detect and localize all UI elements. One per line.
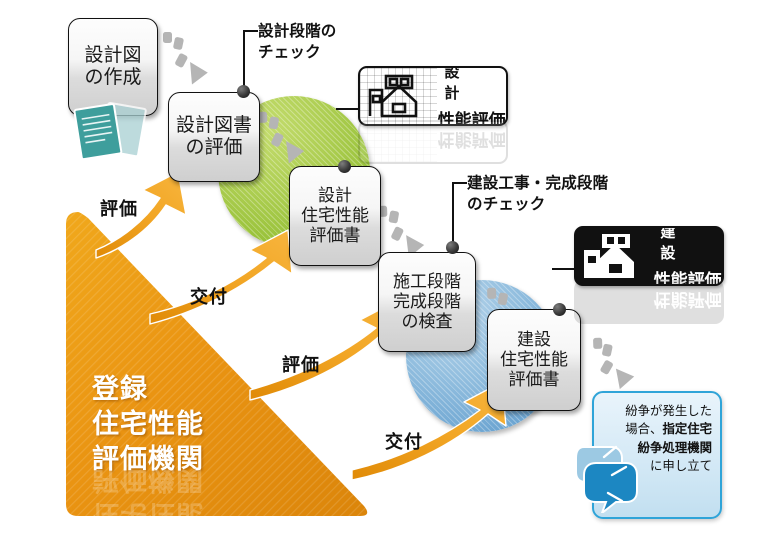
callout-construction-stage-check: 建設工事・完成段階 のチェック xyxy=(467,174,608,216)
callout-dot-1 xyxy=(237,85,250,98)
organization-label-reflection: 登録 住宅性能 評価機関 xyxy=(92,461,204,538)
diagram-canvas: 登録 住宅性能 評価機関 登録 住宅性能 評価機関 xyxy=(0,0,770,538)
design-performance-badge: 設 計 性能評価 xyxy=(358,66,504,122)
dispute-line-2-bold: 指定住宅 xyxy=(662,422,712,436)
flow-label-eval-2: 評価 xyxy=(282,351,320,377)
process-box-design-doc-eval-label: 設計図書 の評価 xyxy=(176,115,252,160)
flow-label-eval-1: 評価 xyxy=(100,195,138,221)
callout-leader-line-2 xyxy=(453,182,467,184)
dispute-speech-bubbles-icon xyxy=(576,441,654,513)
process-box-construction-inspection[interactable]: 施工段階 完成段階 の検査 xyxy=(378,252,476,352)
construction-badge-top-text: 建 設 xyxy=(653,226,722,263)
callout-leader-line-1-vert xyxy=(243,30,245,88)
process-box-design-report[interactable]: 設計 住宅性能 評価書 xyxy=(289,166,381,266)
dispute-line-1: 紛争が発生した xyxy=(625,404,712,418)
callout-leader-line-2-vert xyxy=(452,182,454,244)
callout-dot-2 xyxy=(446,241,459,254)
process-box-design-report-label: 設計 住宅性能 評価書 xyxy=(301,186,369,246)
process-box-construction-report[interactable]: 建設 住宅性能 評価書 xyxy=(487,309,581,411)
report-dot-design xyxy=(338,160,351,173)
process-box-construction-inspection-label: 施工段階 完成段階 の検査 xyxy=(393,272,461,332)
documents-icon xyxy=(68,96,148,170)
callout-leader-line-1 xyxy=(244,30,258,32)
flow-label-issue-1: 交付 xyxy=(190,283,228,309)
process-box-design-drawing-label: 設計図 の作成 xyxy=(84,45,141,90)
callout-design-stage-check: 設計段階の チェック xyxy=(258,22,337,64)
process-box-design-doc-eval[interactable]: 設計図書 の評価 xyxy=(168,92,260,182)
process-box-construction-report-label: 建設 住宅性能 評価書 xyxy=(500,330,568,390)
report-dot-construction xyxy=(553,303,566,316)
badge-leader-line-construction xyxy=(552,268,574,270)
design-badge-top-text: 設 計 xyxy=(437,66,506,103)
dispute-line-2-normal: 場合、 xyxy=(625,422,662,436)
house-icon xyxy=(366,72,434,120)
construction-badge-reflection: 性能評価 xyxy=(574,284,720,324)
flow-label-issue-2: 交付 xyxy=(385,428,423,454)
design-badge-reflection: 性能評価 xyxy=(358,124,504,164)
badge-leader-line-design xyxy=(336,108,358,110)
dispute-line-4: に申し立て xyxy=(650,459,712,473)
house-icon-solid xyxy=(582,232,650,280)
construction-performance-badge: 建 設 性能評価 xyxy=(574,226,720,282)
